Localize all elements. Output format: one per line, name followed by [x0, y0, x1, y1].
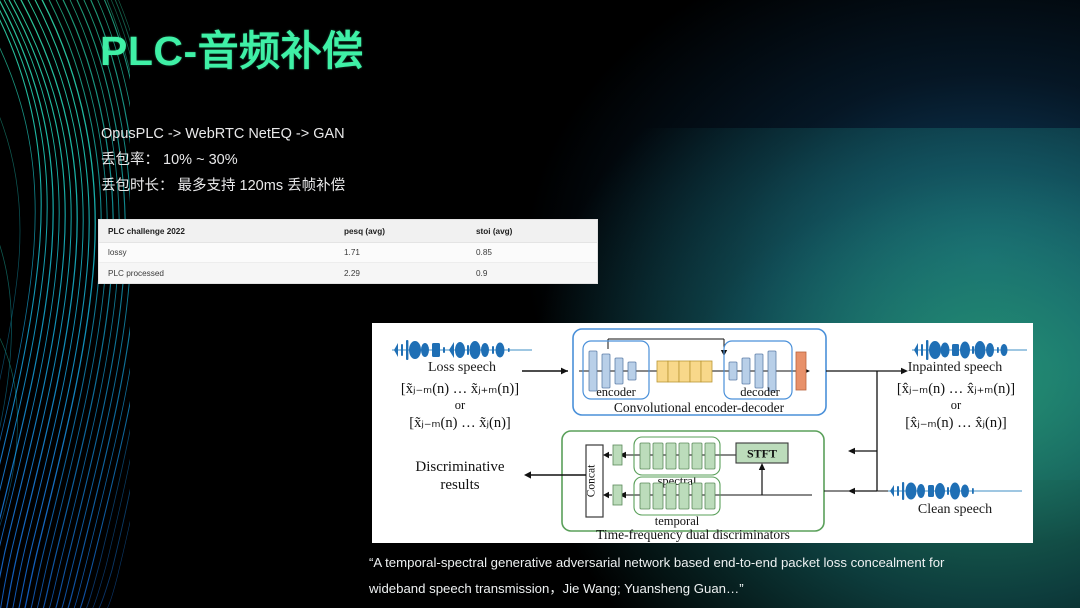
- table-header-cell-name: PLC challenge 2022: [99, 227, 335, 236]
- caption-line-1: “A temporal-spectral generative adversar…: [369, 555, 944, 570]
- table-cell-name: lossy: [99, 248, 335, 257]
- body-line-loss-rate: 丢包率： 10% ~ 30%: [101, 147, 345, 173]
- label-loss-math-1: [x̃ⱼ₋ₘ(n) … x̃ⱼ₊ₘ(n)]: [401, 381, 519, 397]
- results-table: PLC challenge 2022 pesq (avg) stoi (avg)…: [98, 219, 598, 284]
- label-conv-encoder-decoder: Convolutional encoder-decoder: [614, 400, 785, 415]
- label-loss-speech: Loss speech: [428, 360, 496, 375]
- fiber-strands-decoration: [0, 0, 130, 608]
- label-discriminative-results-line1: Discriminative: [415, 459, 504, 475]
- label-inpainted-math-1: [x̂ⱼ₋ₘ(n) … x̂ⱼ₊ₘ(n)]: [897, 381, 1015, 397]
- label-concat: Concat: [586, 464, 598, 497]
- label-spectral: spectral: [658, 474, 697, 488]
- figure-caption: “A temporal-spectral generative adversar…: [369, 550, 1049, 602]
- table-header-cell-stoi: stoi (avg): [467, 227, 597, 236]
- table-row: lossy 1.71 0.85: [99, 243, 597, 263]
- table-header-cell-pesq: pesq (avg): [335, 227, 467, 236]
- body-line-loss-duration: 丢包时长： 最多支持 120ms 丢帧补偿: [101, 173, 345, 199]
- caption-line-2: wideband speech transmission，Jie Wang; Y…: [369, 576, 1049, 602]
- table-cell-pesq: 1.71: [335, 248, 467, 257]
- label-dual-discriminators: Time-frequency dual discriminators: [596, 527, 790, 542]
- label-or-2: or: [951, 398, 962, 412]
- table-cell-name: PLC processed: [99, 269, 335, 278]
- label-clean-speech: Clean speech: [918, 502, 992, 517]
- label-temporal: temporal: [655, 514, 700, 528]
- page-title: PLC-音频补偿: [100, 28, 364, 75]
- label-stft: STFT: [747, 447, 777, 461]
- table-cell-stoi: 0.85: [467, 248, 597, 257]
- architecture-figure-panel: Loss speech [x̃ⱼ₋ₘ(n) … x̃ⱼ₊ₘ(n)] or [x̃…: [372, 323, 1033, 543]
- table-header-row: PLC challenge 2022 pesq (avg) stoi (avg): [99, 220, 597, 243]
- label-or-1: or: [455, 398, 466, 412]
- spectral-head-block: [613, 445, 622, 465]
- table-cell-stoi: 0.9: [467, 269, 597, 278]
- label-encoder: encoder: [596, 385, 636, 399]
- label-discriminative-results-line2: results: [440, 477, 479, 493]
- slide-canvas: PLC-音频补偿 OpusPLC -> WebRTC NetEQ -> GAN …: [0, 0, 1080, 608]
- generator-output-block: [796, 352, 806, 390]
- body-line-pipeline: OpusPLC -> WebRTC NetEQ -> GAN: [101, 121, 345, 147]
- body-text-block: OpusPLC -> WebRTC NetEQ -> GAN 丢包率： 10% …: [101, 121, 345, 199]
- table-cell-pesq: 2.29: [335, 269, 467, 278]
- label-inpainted-speech: Inpainted speech: [908, 360, 1002, 375]
- temporal-head-block: [613, 485, 622, 505]
- bottleneck-blocks: [657, 361, 712, 382]
- table-row: PLC processed 2.29 0.9: [99, 263, 597, 283]
- label-loss-math-2: [x̃ⱼ₋ₘ(n) … x̃ⱼ(n)]: [409, 415, 510, 431]
- label-decoder: decoder: [740, 385, 780, 399]
- label-inpainted-math-2: [x̂ⱼ₋ₘ(n) … x̂ⱼ(n)]: [905, 415, 1006, 431]
